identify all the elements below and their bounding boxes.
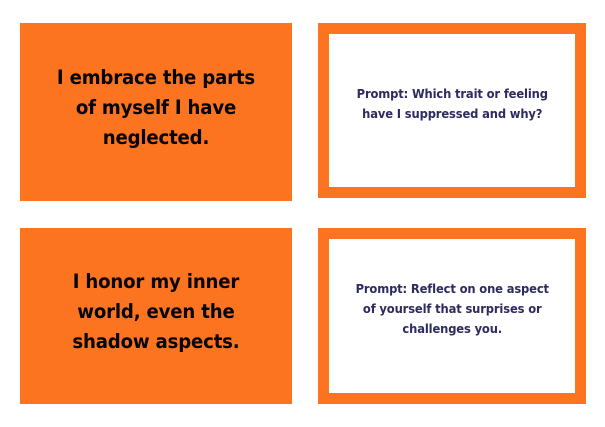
- card-sheet: I embrace the parts of myself I have neg…: [0, 0, 605, 427]
- affirmation-card-top-left[interactable]: I embrace the parts of myself I have neg…: [20, 23, 292, 201]
- affirmation-card-bottom-left[interactable]: I honor my inner world, even the shadow …: [20, 228, 292, 404]
- affirmation-card-text: I honor my inner world, even the shadow …: [47, 267, 265, 357]
- prompt-card-text: Prompt: Which trait or feeling have I su…: [351, 84, 552, 124]
- prompt-card-field: Prompt: Reflect on one aspect of yoursel…: [329, 239, 575, 393]
- prompt-card-bottom-right[interactable]: Prompt: Reflect on one aspect of yoursel…: [318, 228, 586, 404]
- prompt-card-top-right[interactable]: Prompt: Which trait or feeling have I su…: [318, 23, 586, 198]
- affirmation-card-text: I embrace the parts of myself I have neg…: [47, 63, 265, 153]
- prompt-card-field: Prompt: Which trait or feeling have I su…: [329, 34, 575, 187]
- prompt-card-text: Prompt: Reflect on one aspect of yoursel…: [351, 279, 552, 339]
